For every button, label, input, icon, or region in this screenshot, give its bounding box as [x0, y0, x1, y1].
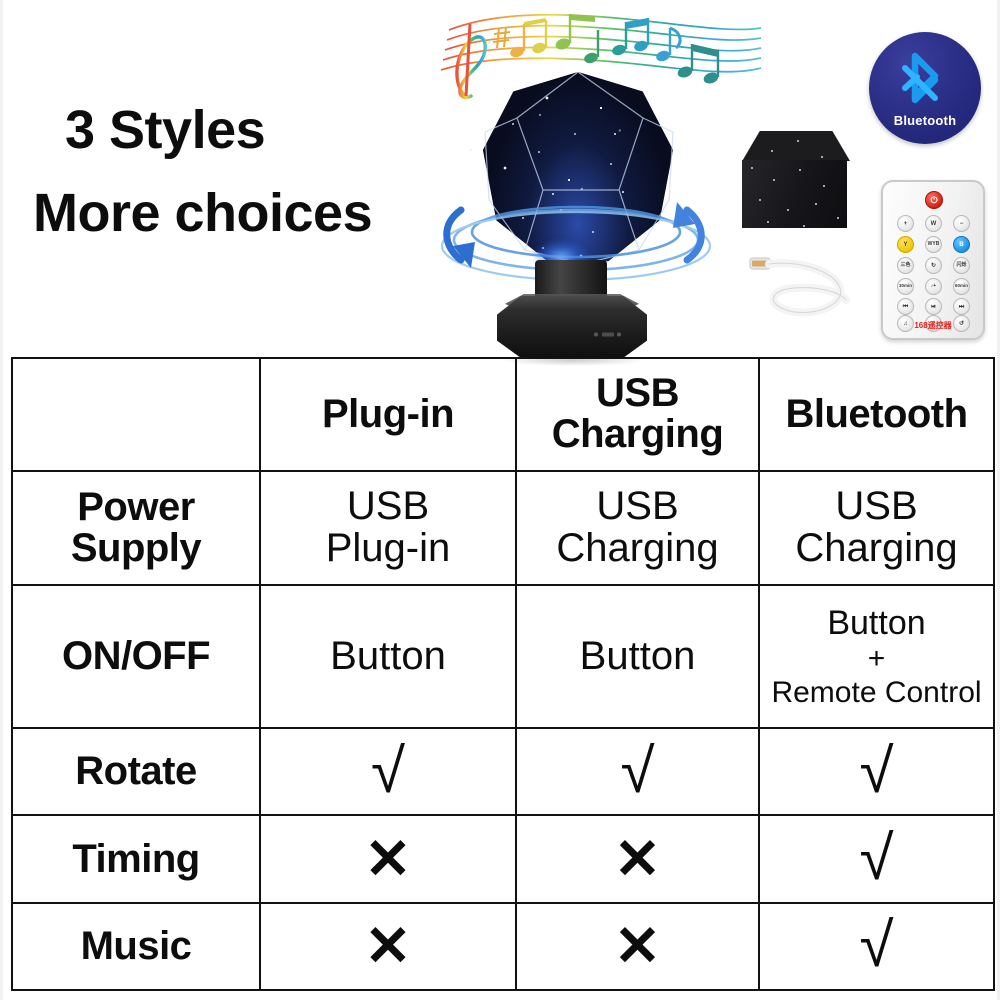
column-header-bluetooth-line1: Bluetooth [764, 394, 989, 435]
table-row-timing: Timing ✕ ✕ √ [12, 815, 994, 902]
cell-music-usb: ✕ [516, 903, 759, 990]
table-row-music: Music ✕ ✕ √ [12, 903, 994, 990]
remote-model-label: 168遥控器 [883, 320, 983, 331]
row-header-timing-line1: Timing [17, 839, 255, 880]
remote-button-y: Y [897, 236, 914, 253]
cell-rotate-plugin: √ [260, 728, 516, 815]
row-header-power-supply-line2: Supply [17, 528, 255, 569]
headline-line-2: More choices [33, 186, 372, 240]
cell-timing-bluetooth: √ [759, 815, 994, 902]
remote-button-rotate: ↻ [925, 257, 942, 274]
cell-power-supply-plugin-line2: Plug-in [265, 528, 511, 570]
comparison-table: Plug-in USB Charging Bluetooth Power Sup… [11, 357, 995, 991]
remote-control-image: ⏻ + W − Y WYB B 三色 ↻ 闪烁 30min ♪+ 60min ⏮… [881, 180, 985, 340]
cell-power-supply-bluetooth: USB Charging [759, 471, 994, 586]
table-header-row: Plug-in USB Charging Bluetooth [12, 358, 994, 471]
remote-button-flash: 闪烁 [953, 257, 970, 274]
remote-button-previous: ⏮ [897, 298, 914, 315]
remote-power-button: ⏻ [925, 191, 943, 209]
cell-power-supply-plugin: USB Plug-in [260, 471, 516, 586]
cell-onoff-bluetooth: Button + Remote Control [759, 585, 994, 728]
gift-box-body [742, 160, 847, 228]
usb-cable-image [748, 248, 858, 320]
lamp-base [497, 296, 647, 358]
infographic-page: 3 Styles More choices [0, 0, 1000, 1000]
table-row-rotate: Rotate √ √ √ [12, 728, 994, 815]
cell-timing-usb: ✕ [516, 815, 759, 902]
cell-power-supply-usb-line2: Charging [521, 528, 754, 570]
row-header-onoff-line1: ON/OFF [17, 636, 255, 677]
row-header-power-supply-line1: Power [17, 487, 255, 528]
star-projector-lamp-image [443, 72, 705, 357]
cell-rotate-usb: √ [516, 728, 759, 815]
lamp-usb-port-icon [593, 325, 623, 332]
remote-button-b: B [953, 236, 970, 253]
bluetooth-badge-label: Bluetooth [869, 113, 981, 128]
row-header-music-line1: Music [17, 926, 255, 967]
table-row-onoff: ON/OFF Button Button Button + Remote Con… [12, 585, 994, 728]
cell-onoff-plugin-line1: Button [265, 636, 511, 678]
gift-box-lid [740, 131, 850, 161]
cell-music-bluetooth: √ [759, 903, 994, 990]
cell-onoff-usb: Button [516, 585, 759, 728]
bluetooth-badge: Bluetooth [869, 32, 981, 144]
table-row-power-supply: Power Supply USB Plug-in USB Charging US… [12, 471, 994, 586]
cell-onoff-plugin: Button [260, 585, 516, 728]
row-header-timing: Timing [12, 815, 260, 902]
cell-timing-plugin: ✕ [260, 815, 516, 902]
remote-button-w: W [925, 215, 942, 232]
gift-box-lid-pattern [740, 131, 850, 161]
remote-button-30min: 30min [897, 278, 914, 295]
row-header-onoff: ON/OFF [12, 585, 260, 728]
row-header-rotate-line1: Rotate [17, 751, 255, 792]
cell-rotate-bluetooth: √ [759, 728, 994, 815]
remote-button-tricolor: 三色 [897, 257, 914, 274]
remote-button-volume-up: ♪+ [925, 278, 942, 295]
constellation-gift-box-image [740, 131, 850, 231]
row-header-power-supply: Power Supply [12, 471, 260, 586]
column-header-plugin-line1: Plug-in [265, 394, 511, 435]
column-header-usb-charging: USB Charging [516, 358, 759, 471]
cell-power-supply-usb-line1: USB [521, 486, 754, 528]
headline-line-1: 3 Styles [65, 103, 265, 157]
column-header-usb-charging-line1: USB [521, 373, 754, 414]
cell-power-supply-plugin-line1: USB [265, 486, 511, 528]
table-corner-cell [12, 358, 260, 471]
column-header-plugin: Plug-in [260, 358, 516, 471]
remote-button-minus: − [953, 215, 970, 232]
cell-onoff-usb-line1: Button [521, 636, 754, 678]
row-header-rotate: Rotate [12, 728, 260, 815]
remote-button-playpause: ⏯ [925, 298, 942, 315]
cell-power-supply-usb: USB Charging [516, 471, 759, 586]
row-header-music: Music [12, 903, 260, 990]
cell-onoff-bluetooth-line1: Button [764, 604, 989, 642]
cell-music-plugin: ✕ [260, 903, 516, 990]
cell-power-supply-bluetooth-line2: Charging [764, 528, 989, 570]
gift-box-body-pattern [742, 160, 847, 228]
remote-button-plus: + [897, 215, 914, 232]
column-header-usb-charging-line2: Charging [521, 414, 754, 455]
remote-button-next: ⏭ [953, 298, 970, 315]
remote-button-wyb: WYB [925, 236, 942, 253]
bluetooth-icon [897, 46, 953, 110]
column-header-bluetooth: Bluetooth [759, 358, 994, 471]
hero-section: 3 Styles More choices [3, 0, 1000, 357]
cell-onoff-bluetooth-line3: Remote Control [764, 676, 989, 710]
remote-button-60min: 60min [953, 278, 970, 295]
cell-onoff-bluetooth-line2: + [764, 642, 989, 676]
cell-power-supply-bluetooth-line1: USB [764, 486, 989, 528]
